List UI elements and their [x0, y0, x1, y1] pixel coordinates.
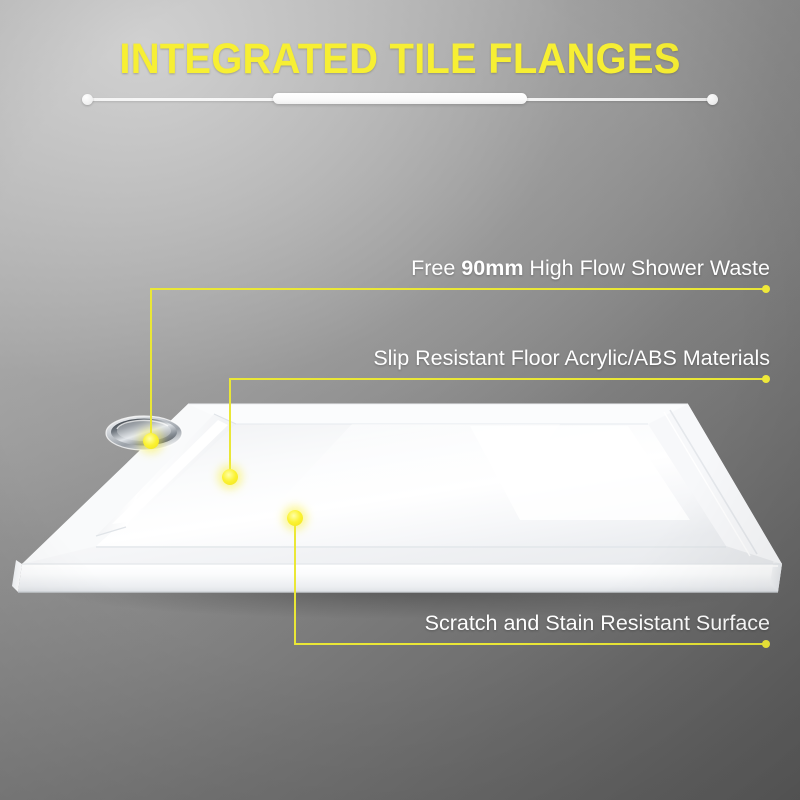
- leader-line-scratch-resistant-stem: [294, 518, 296, 645]
- callout-slip-resistant: Slip Resistant Floor Acrylic/ABS Materia…: [229, 330, 770, 380]
- leader-line-shower-waste-stem: [150, 290, 152, 434]
- leader-dot-scratch-resistant-icon: [287, 510, 303, 526]
- callout-shower-waste-end-dot-icon: [762, 285, 770, 293]
- callout-slip-resistant-end-dot-icon: [762, 375, 770, 383]
- callout-scratch-resistant: Scratch and Stain Resistant Surface: [294, 595, 770, 645]
- leader-dot-shower-waste-icon: [143, 433, 159, 449]
- callout-scratch-resistant-text: Scratch and Stain Resistant Surface: [425, 610, 770, 636]
- product-image-shower-tray: [0, 0, 800, 800]
- callout-scratch-resistant-underline: [294, 643, 763, 645]
- callout-slip-resistant-text: Slip Resistant Floor Acrylic/ABS Materia…: [373, 345, 770, 371]
- callout-shower-waste-underline: [150, 288, 763, 290]
- callout-shower-waste: Free 90mm High Flow Shower Waste: [150, 240, 770, 290]
- infographic-canvas: INTEGRATED TILE FLANGES: [0, 0, 800, 800]
- callout-shower-waste-text: Free 90mm High Flow Shower Waste: [411, 255, 770, 281]
- leader-line-slip-resistant-stem: [229, 380, 231, 470]
- callout-scratch-resistant-end-dot-icon: [762, 640, 770, 648]
- callout-slip-resistant-underline: [229, 378, 763, 380]
- leader-dot-slip-resistant-icon: [222, 469, 238, 485]
